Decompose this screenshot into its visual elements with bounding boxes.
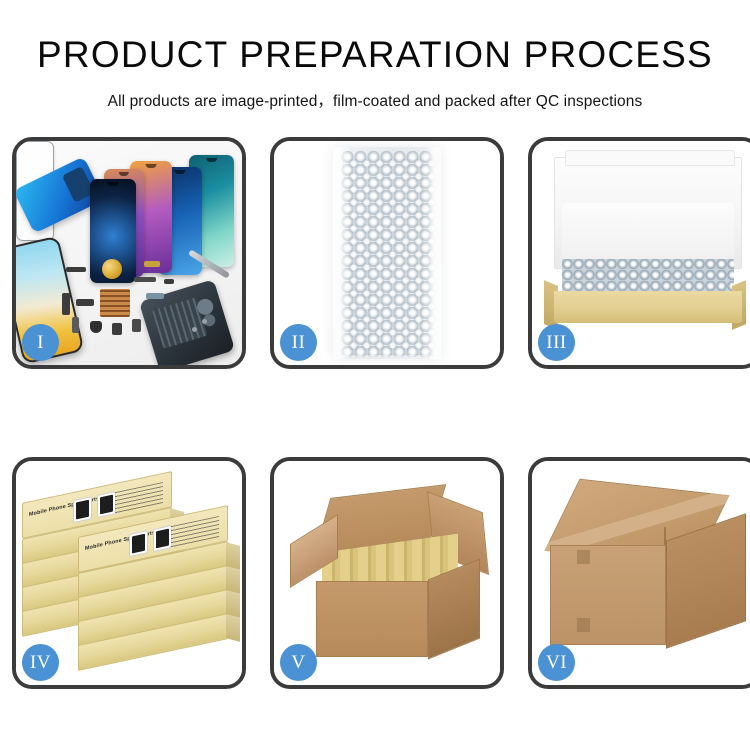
page-subtitle: All products are image-printed，film-coat… <box>0 89 750 111</box>
page-header: PRODUCT PREPARATION PROCESS All products… <box>0 0 750 111</box>
box-spec-lines <box>171 516 219 548</box>
step-panel-5: V <box>270 457 504 689</box>
sealed-shipping-carton <box>550 487 748 665</box>
step-badge-1: I <box>22 324 59 361</box>
step-badge-5: V <box>280 644 317 681</box>
box-phone-graphic <box>129 530 148 557</box>
screw-part <box>202 319 207 324</box>
copper-grid-part <box>100 289 130 317</box>
step-panel-3: III <box>528 137 750 369</box>
page-root: PRODUCT PREPARATION PROCESS All products… <box>0 0 750 750</box>
box-phone-graphic <box>153 525 172 552</box>
step-badge-2: II <box>280 324 317 361</box>
step-panel-1: I <box>12 137 246 369</box>
retail-box-stack: Mobile Phone Spare Parts Mobile Phone Sp… <box>22 481 242 677</box>
speaker-coil-part <box>102 259 122 279</box>
step-panel-4: Mobile Phone Spare Parts Mobile Phone Sp… <box>12 457 246 689</box>
step-badge-3: III <box>538 324 575 361</box>
small-component-part <box>164 279 174 284</box>
step-panel-6: VI <box>528 457 750 689</box>
inner-box-front-panel <box>554 291 742 323</box>
bubble-wrap-sheet <box>333 147 441 359</box>
small-component-part <box>132 319 141 332</box>
open-shipping-carton <box>294 485 490 665</box>
step-badge-6: VI <box>538 644 575 681</box>
camera-module-part <box>90 321 102 333</box>
box-phone-graphic <box>73 496 92 523</box>
battery-connector-part <box>112 323 122 335</box>
flex-cable-part <box>72 317 79 333</box>
inner-box-foam-liner <box>562 203 734 259</box>
bubble-wrap-edge-highlight <box>333 147 441 359</box>
page-title: PRODUCT PREPARATION PROCESS <box>0 36 750 73</box>
flex-cable-part <box>134 277 156 282</box>
shield-plate-part <box>146 293 164 299</box>
step-badge-4: IV <box>22 644 59 681</box>
process-steps-grid: I II III <box>12 137 738 689</box>
flex-cable-part <box>66 267 86 272</box>
carton-front-panel <box>316 581 428 657</box>
flex-cable-part <box>76 299 94 306</box>
gold-connector-part <box>144 261 160 267</box>
screw-part <box>192 327 197 332</box>
box-phone-graphic <box>97 491 116 518</box>
box-spec-lines <box>115 482 163 514</box>
step-panel-2: II <box>270 137 504 369</box>
inner-box-bubble-contents <box>562 259 734 293</box>
flex-cable-part <box>62 293 70 315</box>
carton-front-panel <box>550 545 666 645</box>
